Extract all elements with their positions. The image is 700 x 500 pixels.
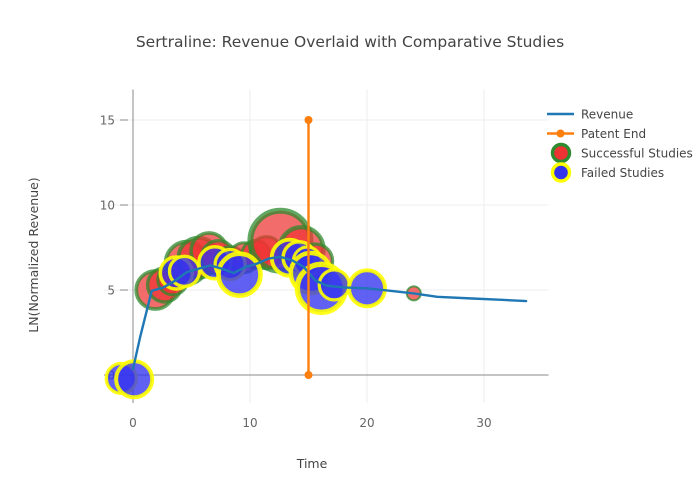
legend-item-4[interactable]: Failed Studies xyxy=(553,164,665,181)
x-axis-title: Time xyxy=(296,456,328,471)
x-tick-label: 0 xyxy=(129,416,137,430)
bubble-failed-study[interactable] xyxy=(218,254,260,296)
legend-item-3[interactable]: Successful Studies xyxy=(553,145,693,162)
legend-bubble-icon xyxy=(553,164,570,181)
legend-item-label: Patent End xyxy=(581,127,646,141)
y-tick-label: 10 xyxy=(100,199,115,213)
legend-item-label: Revenue xyxy=(581,108,633,122)
x-tick-label: 20 xyxy=(359,416,374,430)
legend-dot-icon xyxy=(557,130,565,138)
patent-end-marker[interactable] xyxy=(305,116,313,124)
page-title: Sertraline: Revenue Overlaid with Compar… xyxy=(136,33,564,51)
legend-item-1[interactable]: Revenue xyxy=(547,108,633,122)
x-tick-label: 10 xyxy=(242,416,257,430)
chart-legend[interactable]: RevenuePatent EndSuccessful StudiesFaile… xyxy=(547,108,693,182)
y-axis-title: LN(Normalized Revenue) xyxy=(26,177,41,332)
legend-item-label: Failed Studies xyxy=(581,166,664,180)
x-tick-label: 30 xyxy=(476,416,491,430)
patent-end-marker[interactable] xyxy=(305,371,313,379)
legend-item-label: Successful Studies xyxy=(581,147,693,161)
legend-bubble-icon xyxy=(553,145,570,162)
failed-studies-bubbles[interactable] xyxy=(106,240,385,398)
y-tick-label: 15 xyxy=(100,114,115,128)
chart-page: Sertraline: Revenue Overlaid with Compar… xyxy=(0,0,700,500)
y-tick-label: 5 xyxy=(107,284,115,298)
scatter-chart: Sertraline: Revenue Overlaid with Compar… xyxy=(0,0,700,500)
legend-item-2[interactable]: Patent End xyxy=(547,127,646,141)
